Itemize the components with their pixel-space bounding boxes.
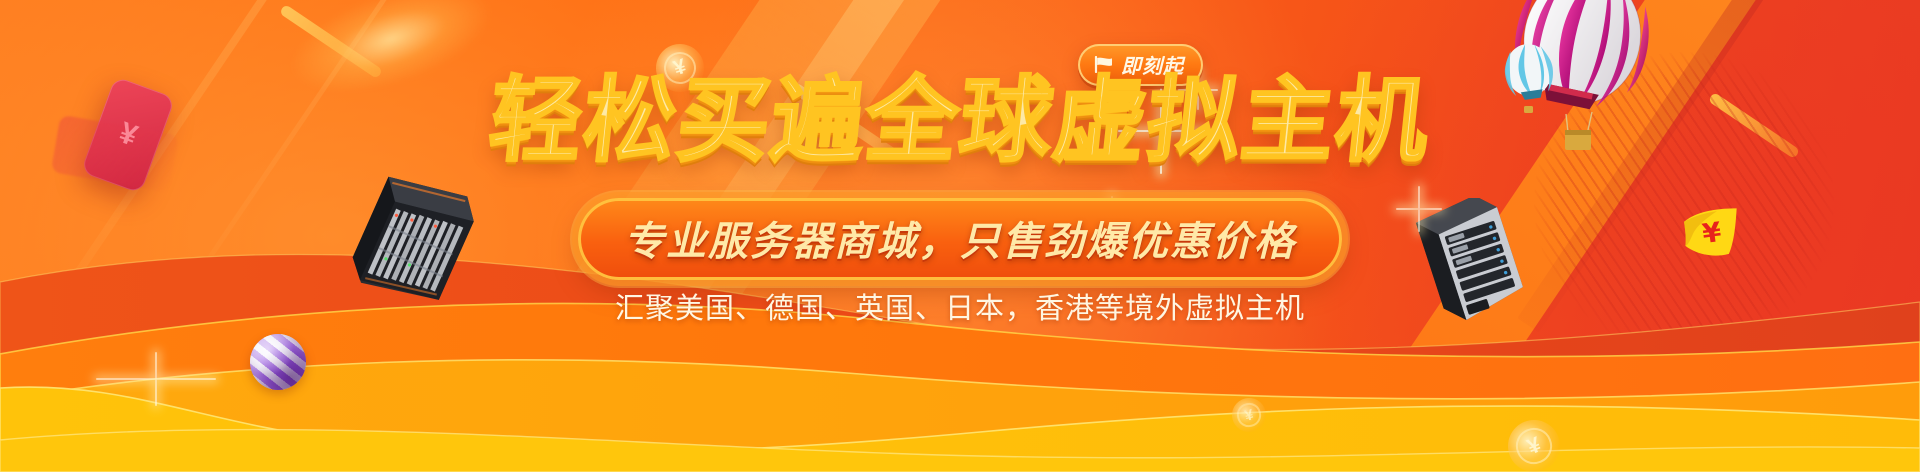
banner-content: 即刻起 轻松买遍全球虚拟主机 专业服务器商城，只售劲爆优惠价格 汇聚美国、德国、… bbox=[0, 0, 1920, 472]
tagline: 汇聚美国、德国、英国、日本，香港等境外虚拟主机 bbox=[0, 285, 1920, 327]
subtitle-pill-text: 专业服务器商城，只售劲爆优惠价格 bbox=[624, 219, 1296, 265]
subtitle-pill: 专业服务器商城，只售劲爆优惠价格 bbox=[578, 198, 1342, 280]
promo-banner: ¥ ¥ ¥ ¥ ¥ bbox=[0, 0, 1920, 472]
page-title: 轻松买遍全球虚拟主机 bbox=[0, 74, 1920, 168]
